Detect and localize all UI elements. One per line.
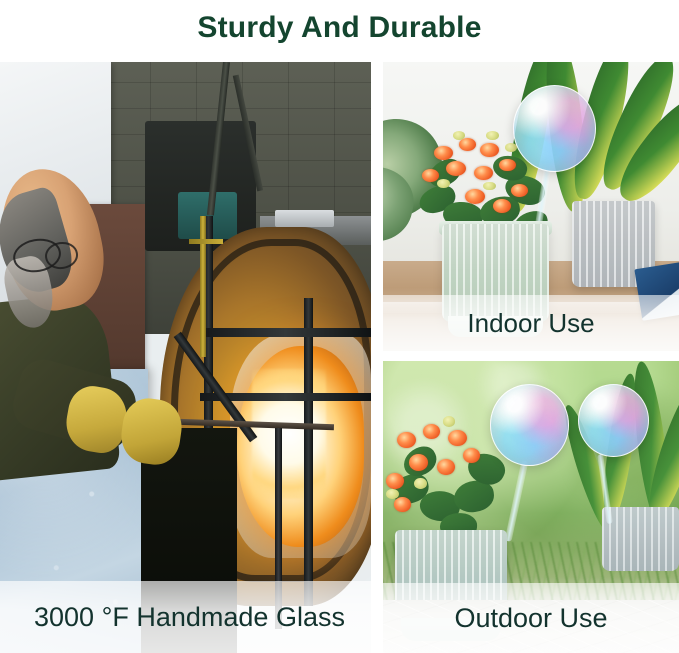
furnace-frame-bar-vertical-2 — [304, 298, 313, 605]
page-title: Sturdy And Durable — [197, 11, 481, 45]
kalanchoe-flower — [437, 459, 455, 475]
molten-glass-glow — [252, 369, 326, 499]
kalanchoe-flower — [397, 432, 415, 448]
kalanchoe-flower — [465, 189, 485, 204]
flower-bud — [414, 478, 427, 489]
flower-bud — [443, 416, 456, 427]
kalanchoe-flower — [499, 159, 516, 172]
flower-bud — [386, 489, 399, 500]
kalanchoe-flower — [423, 424, 440, 439]
kalanchoe-flower — [446, 161, 466, 176]
title-bar: Sturdy And Durable — [0, 0, 679, 56]
caption-outdoor-text: Outdoor Use — [454, 603, 607, 634]
kalanchoe-flower — [463, 448, 480, 463]
yellow-crossbar — [189, 239, 222, 244]
kalanchoe-flower — [434, 146, 452, 160]
kalanchoe-flower — [459, 138, 476, 151]
furnace-frame-bar-horizontal-1 — [200, 328, 371, 337]
kalanchoe-flower — [448, 430, 466, 446]
caption-outdoor-use: Outdoor Use — [383, 583, 679, 653]
flower-bud — [483, 182, 495, 191]
flower-bud — [486, 131, 498, 140]
flower-bud — [437, 179, 449, 188]
caption-handmade-glass: 3000 °F Handmade Glass — [0, 581, 371, 653]
caption-indoor-text: Indoor Use — [467, 308, 594, 339]
panel-outdoor-use: Outdoor Use — [383, 361, 679, 653]
product-infographic: Sturdy And Durable — [0, 0, 679, 653]
caption-left-text: 3000 °F Handmade Glass — [34, 602, 345, 633]
grey-fluted-pot — [602, 507, 679, 571]
watering-globe — [513, 85, 596, 172]
shelf-items — [275, 210, 334, 228]
caption-indoor-use: Indoor Use — [383, 295, 679, 351]
kalanchoe-flower — [422, 169, 439, 182]
kalanchoe-flower — [394, 497, 411, 512]
kalanchoe-flower — [386, 473, 404, 489]
panel-indoor-use: Indoor Use — [383, 62, 679, 351]
kalanchoe-flower — [474, 166, 492, 180]
yellow-rod — [200, 216, 206, 358]
kalanchoe-flower — [511, 184, 528, 197]
scene-glassblowing — [0, 62, 371, 653]
panel-handmade-glass: 3000 °F Handmade Glass — [0, 62, 371, 653]
watering-globe — [490, 384, 570, 466]
kalanchoe-flower — [480, 143, 498, 157]
flower-bud — [453, 131, 465, 140]
